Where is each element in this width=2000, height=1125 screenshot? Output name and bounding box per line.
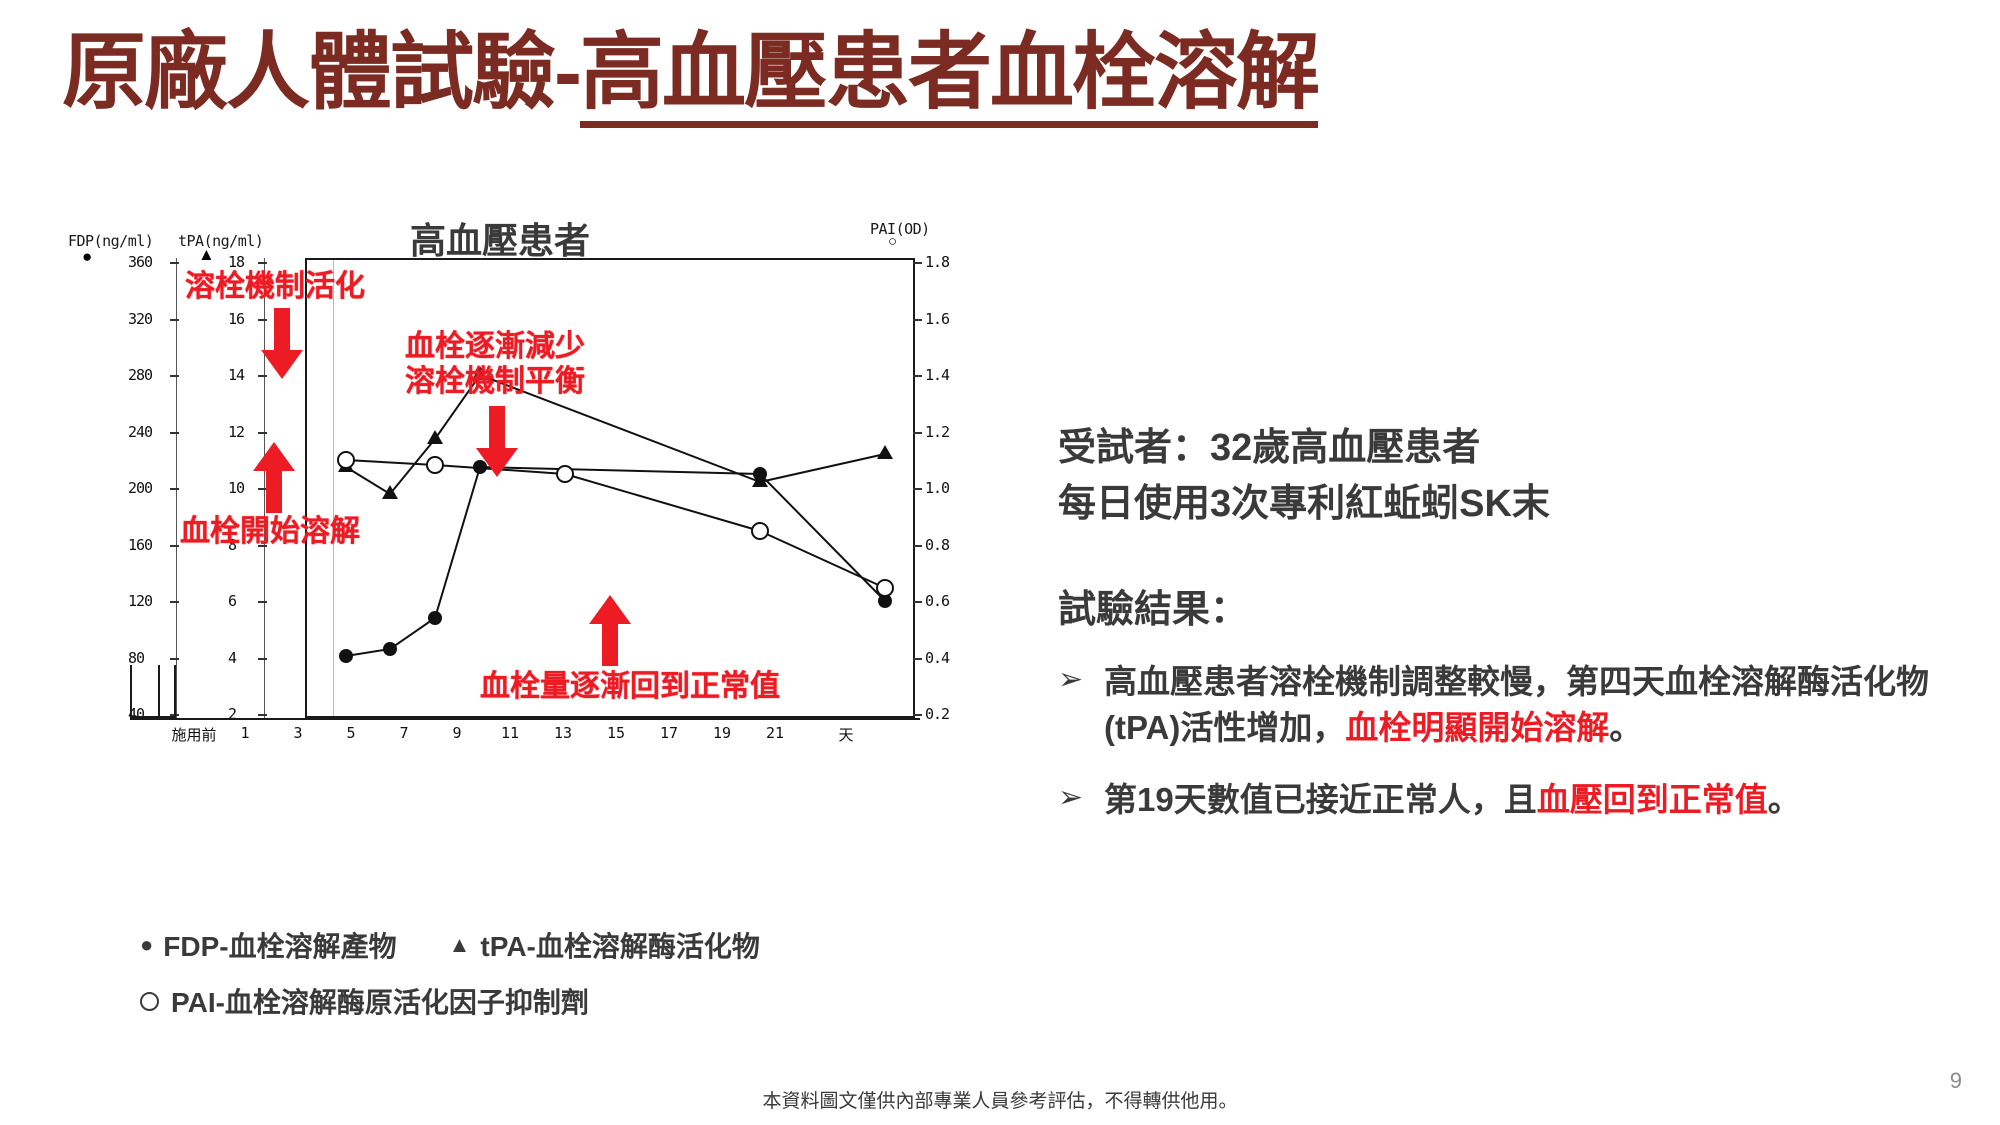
- pai-tick-label: 0.2: [925, 705, 949, 723]
- result-bullet-2: ➢ 第19天數值已接近正常人，且血壓回到正常值。: [1058, 777, 1958, 823]
- tpa-tick-mark: [258, 714, 267, 716]
- fdp-legend-icon: ●: [82, 248, 92, 265]
- tpa-tick-mark: [258, 262, 267, 264]
- footer-note: 本資料圖文僅供內部專業人員參考評估，不得轉供他用。: [0, 1086, 2000, 1113]
- page-title: 原廠人體試驗-高血壓患者血栓溶解: [62, 26, 1318, 118]
- annotation-3: 溶栓機制平衡: [405, 365, 585, 399]
- annotation-2-arrow-icon: [475, 406, 519, 478]
- annotation-1: 溶栓機制活化: [185, 270, 365, 304]
- fdp-tick-label: 360: [128, 253, 152, 271]
- tpa-tick-label: 18: [228, 253, 244, 271]
- pai-axis-header: PAI(OD): [870, 220, 930, 238]
- fdp-tick-label: 320: [128, 310, 152, 328]
- fdp-tick-label: 160: [128, 536, 152, 554]
- legend-item-pai: PAI-血栓溶解酶原活化因子抑制劑: [140, 981, 589, 1021]
- fdp-tick-mark: [170, 432, 179, 434]
- tpa-legend-icon: ▲: [198, 246, 215, 263]
- fdp-tick-label: 120: [128, 592, 152, 610]
- fdp-tick-label: 200: [128, 479, 152, 497]
- tpa-tick-label: 16: [228, 310, 244, 328]
- tpa-tick-mark: [258, 601, 267, 603]
- annotation-4-arrow-icon: [252, 442, 296, 514]
- x-tick-label: 13: [554, 724, 572, 742]
- tpa-tick-mark: [258, 432, 267, 434]
- chart-figure: 高血壓患者 FDP(ng/ml) ● tPA(ng/ml) ▲ PAI(OD) …: [70, 210, 970, 910]
- tpa-tick-label: 4: [228, 649, 236, 667]
- fdp-tick-mark: [170, 375, 179, 377]
- fdp-tick-label: 80: [128, 649, 144, 667]
- page-title-plain: 原廠人體試驗-: [62, 25, 580, 119]
- x-tick-label-pre: 施用前: [171, 724, 216, 745]
- legend-item-tpa: ▲ tPA-血栓溶解酶活化物: [449, 925, 760, 965]
- bullet-2-part1: 第19天數值已接近正常人，且: [1104, 781, 1537, 818]
- x-tick-label: 19: [713, 724, 731, 742]
- fdp-tick-mark: [170, 545, 179, 547]
- filled-circle-icon: ●: [140, 934, 153, 956]
- bullet-2-highlight: 血壓回到正常值: [1537, 781, 1768, 818]
- annotation-4: 血栓開始溶解: [180, 515, 360, 549]
- chevron-right-icon: ➢: [1058, 777, 1104, 823]
- subject-line-2: 每日使用3次專利紅蚯蚓SK末: [1058, 476, 1958, 532]
- pre-treatment-box: [130, 665, 176, 718]
- fdp-tick-mark: [170, 262, 179, 264]
- x-axis-labels: 施用前13579111315171921天: [70, 724, 970, 754]
- result-bullet-1: ➢ 高血壓患者溶栓機制調整較慢，第四天血栓溶解酶活化物(tPA)活性增加，血栓明…: [1058, 659, 1958, 750]
- chevron-right-icon: ➢: [1058, 659, 1104, 750]
- result-bullet-1-text: 高血壓患者溶栓機制調整較慢，第四天血栓溶解酶活化物(tPA)活性增加，血栓明顯開…: [1104, 659, 1958, 750]
- fdp-tick-mark: [170, 658, 179, 660]
- results-title: 試驗結果：: [1058, 578, 1958, 633]
- x-tick-label: 3: [293, 724, 302, 742]
- page-number: 9: [1950, 1068, 1962, 1094]
- fdp-tick-mark: [170, 601, 179, 603]
- x-tick-label: 9: [452, 724, 461, 742]
- tpa-tick-label: 14: [228, 366, 244, 384]
- page-title-underlined: 高血壓患者血栓溶解: [580, 25, 1318, 128]
- tpa-tick-label: 10: [228, 479, 244, 497]
- x-tick-label: 5: [346, 724, 355, 742]
- x-tick-label: 11: [501, 724, 519, 742]
- bullet-1-part2: 。: [1609, 709, 1642, 746]
- fdp-tick-mark: [170, 319, 179, 321]
- x-axis-unit-label: 天: [838, 724, 853, 745]
- legend-label-fdp: FDP-血栓溶解產物: [163, 925, 396, 965]
- pai-tick-label: 1.0: [925, 479, 949, 497]
- tpa-tick-label: 12: [228, 423, 244, 441]
- annotation-2: 血栓逐漸減少: [405, 330, 585, 364]
- result-bullet-2-text: 第19天數值已接近正常人，且血壓回到正常值。: [1104, 777, 1958, 823]
- fdp-tick-label: 240: [128, 423, 152, 441]
- fdp-axis: 3603202802402001601208040: [130, 258, 180, 718]
- fdp-tick-mark: [170, 488, 179, 490]
- tpa-tick-label: 2: [228, 705, 236, 723]
- tpa-tick-mark: [258, 658, 267, 660]
- legend-label-tpa: tPA-血栓溶解酶活化物: [480, 925, 759, 965]
- x-tick-label: 1: [240, 724, 249, 742]
- pai-tick-label: 0.8: [925, 536, 949, 554]
- x-tick-label: 7: [399, 724, 408, 742]
- pai-tick-label: 0.6: [925, 592, 949, 610]
- pre-treatment-divider: [158, 665, 160, 718]
- x-tick-label: 21: [766, 724, 784, 742]
- subject-line-1: 受試者：32歲高血壓患者: [1058, 420, 1958, 476]
- bullet-1-highlight: 血栓明顯開始溶解: [1345, 709, 1609, 746]
- annotation-1-arrow-icon: [260, 308, 304, 380]
- fdp-tick-label: 280: [128, 366, 152, 384]
- pai-tick-label: 1.4: [925, 366, 949, 384]
- annotation-5: 血栓量逐漸回到正常值: [480, 670, 780, 704]
- annotation-5-arrow-icon: [588, 595, 632, 667]
- fdp-axis-header: FDP(ng/ml): [68, 232, 153, 250]
- pai-line: [346, 460, 885, 588]
- legend-item-fdp: ● FDP-血栓溶解產物: [140, 925, 397, 965]
- pai-tick-label: 1.8: [925, 253, 949, 271]
- tpa-tick-label: 6: [228, 592, 236, 610]
- chart-legend: ● FDP-血栓溶解產物 ▲ tPA-血栓溶解酶活化物 PAI-血栓溶解酶原活化…: [140, 925, 960, 1037]
- tpa-axis-header: tPA(ng/ml): [178, 232, 263, 250]
- pai-axis: 1.81.61.41.21.00.80.60.40.2: [915, 258, 975, 718]
- pai-legend-icon: ○: [888, 234, 897, 249]
- legend-label-pai: PAI-血栓溶解酶原活化因子抑制劑: [171, 981, 589, 1021]
- info-panel: 受試者：32歲高血壓患者 每日使用3次專利紅蚯蚓SK末 試驗結果： ➢ 高血壓患…: [1058, 420, 1958, 822]
- chart-heading: 高血壓患者: [410, 212, 590, 264]
- x-tick-label: 17: [660, 724, 678, 742]
- pai-tick-label: 0.4: [925, 649, 949, 667]
- pai-tick-label: 1.2: [925, 423, 949, 441]
- hollow-circle-icon: [140, 992, 159, 1011]
- x-tick-label: 15: [607, 724, 625, 742]
- filled-triangle-icon: ▲: [449, 934, 471, 956]
- bullet-2-part2: 。: [1768, 781, 1801, 818]
- x-axis-line: [130, 718, 920, 720]
- pai-tick-label: 1.6: [925, 310, 949, 328]
